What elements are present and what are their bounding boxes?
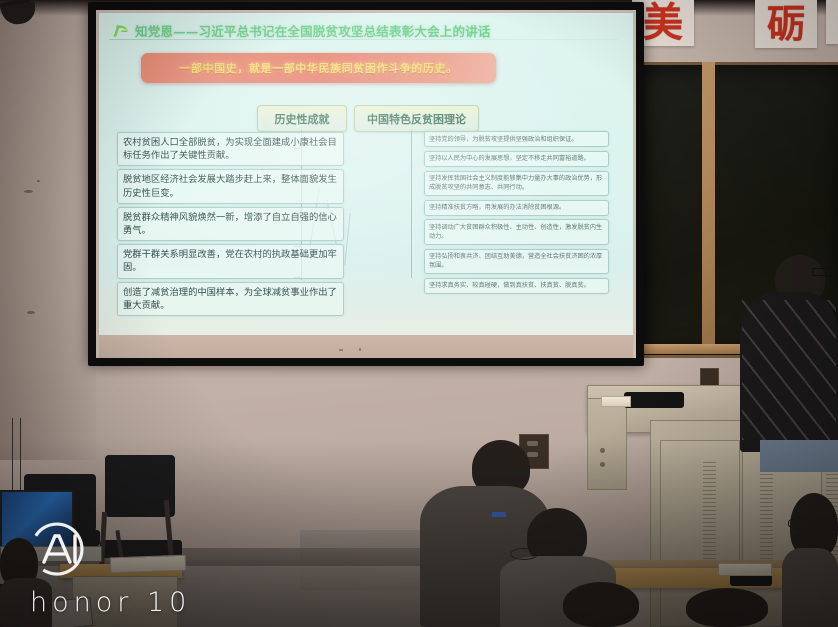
slide-bullet-text: 脱贫地区经济社会发展大踏步赶上来，整体面貌发生历史性巨变。 — [123, 173, 338, 199]
notebook — [718, 563, 772, 576]
slide-category-theory: 中国特色反贫困理论 — [354, 105, 479, 132]
wall-socket-hole — [527, 452, 538, 457]
slide-bullet-text: 坚持党的领导，为脱贫攻坚提供坚强政治和组织保证。 — [429, 135, 604, 144]
classroom-photo-scene: 美 砺 知党恩——习近平 — [0, 0, 838, 627]
slide-bullet-text: 农村贫困人口全部脱贫，为实现全面建成小康社会目标任务作出了关键性贡献。 — [123, 136, 338, 162]
slide-bullet-text: 创造了减贫治理的中国样本，为全球减贫事业作出了重大贡献。 — [123, 286, 338, 312]
presenter-sweater-pattern — [742, 300, 836, 440]
screen-lower-wall — [99, 335, 633, 358]
ccp-party-emblem-icon — [111, 22, 130, 39]
lanyard — [492, 512, 506, 517]
open-book — [110, 555, 187, 574]
slide-bullet-text: 坚持调动广大贫困群众积极性、主动性、创造性，激发脱贫内生动力。 — [429, 223, 604, 242]
audience-glasses-icon — [510, 548, 538, 560]
slide-title-divider — [109, 39, 619, 40]
slide-title: 知党恩——习近平总书记在全国脱贫攻坚总结表彰大会上的讲话 — [135, 21, 491, 40]
slide-connector-right — [411, 130, 412, 278]
slide-bullet: 党群干群关系明显改善，党在农村的执政基础更加牢固。 — [117, 244, 344, 278]
slide-bullet: 坚持以人民为中心的发展思想，坚定不移走共同富裕道路。 — [424, 151, 609, 167]
lectern-side-panel — [587, 398, 627, 490]
projection-screen-surface: 知党恩——习近平总书记在全国脱贫攻坚总结表彰大会上的讲话 一部中国史，就是一部中… — [96, 10, 636, 358]
presentation-slide: 知党恩——习近平总书记在全国脱贫攻坚总结表彰大会上的讲话 一部中国史，就是一部中… — [99, 13, 633, 335]
lectern-knob — [600, 448, 605, 453]
slide-quote-text: 一部中国史，就是一部中华民族同贫困作斗争的历史。 — [179, 60, 457, 76]
slide-bullet: 坚持求真务实、较真碰硬，做到真扶贫、扶真贫、脱真贫。 — [424, 278, 609, 294]
slide-category-label: 历史性成就 — [275, 111, 330, 127]
slide-bullet: 坚持党的领导，为脱贫攻坚提供坚强政治和组织保证。 — [424, 131, 609, 147]
slide-bullet: 坚持弘扬和衷共济、团结互助美德，营造全社会扶贫济困的浓厚氛围。 — [424, 249, 609, 275]
audience-head — [686, 588, 768, 627]
wall-socket-hole — [527, 441, 538, 446]
slide-bullet: 脱贫群众精神风貌焕然一新，增添了自立自强的信心勇气。 — [117, 207, 344, 241]
slide-bullet-text: 坚持发挥我国社会主义制度能够集中力量办大事的政治优势，形成脱贫攻坚的共同意志、共… — [429, 174, 604, 193]
screen-dust-speck — [359, 348, 361, 351]
wall-poster-character: 美 — [643, 3, 683, 43]
slide-left-column: 农村贫困人口全部脱贫，为实现全面建成小康社会目标任务作出了关键性贡献。 脱贫地区… — [117, 132, 344, 319]
wall-blemish — [24, 190, 33, 193]
audience-body — [782, 548, 838, 627]
slide-category-label: 中国特色反贫困理论 — [367, 111, 466, 127]
slide-quote-banner: 一部中国史，就是一部中华民族同贫困作斗争的历史。 — [141, 53, 496, 83]
slide-right-column: 坚持党的领导，为脱贫攻坚提供坚强政治和组织保证。 坚持以人民为中心的发展思想，坚… — [424, 131, 609, 297]
slide-bullet-text: 坚持以人民为中心的发展思想，坚定不移走共同富裕道路。 — [429, 154, 604, 163]
slide-bullet: 农村贫困人口全部脱贫，为实现全面建成小康社会目标任务作出了关键性贡献。 — [117, 132, 344, 166]
screen-dust-speck — [339, 349, 343, 351]
audience-body — [0, 578, 52, 627]
slide-bullet: 脱贫地区经济社会发展大踏步赶上来，整体面貌发生历史性巨变。 — [117, 169, 344, 203]
slide-bullet-text: 党群干群关系明显改善，党在农村的执政基础更加牢固。 — [123, 248, 338, 274]
presenter-glasses-icon — [812, 268, 834, 276]
wall-blemish — [27, 311, 35, 314]
slide-bullet: 坚持精准扶贫方略，用发展的办法消除贫困根源。 — [424, 200, 609, 216]
presenter-jeans — [760, 440, 838, 472]
wall-shadow — [0, 0, 96, 460]
slide-bullet-text: 坚持弘扬和衷共济、团结互助美德，营造全社会扶贫济困的浓厚氛围。 — [429, 252, 604, 271]
slide-bullet-text: 坚持精准扶贫方略，用发展的办法消除贫困根源。 — [429, 203, 604, 212]
slide-title-row: 知党恩——习近平总书记在全国脱贫攻坚总结表彰大会上的讲话 — [111, 21, 491, 40]
slide-bullet: 坚持调动广大贫困群众积极性、主动性、创造性，激发脱贫内生动力。 — [424, 219, 609, 245]
cabinet-vent — [760, 462, 773, 560]
hanging-wire — [20, 418, 21, 496]
projection-screen-frame: 知党恩——习近平总书记在全国脱贫攻坚总结表彰大会上的讲话 一部中国史，就是一部中… — [88, 2, 644, 366]
cabinet-vent — [703, 462, 716, 560]
slide-bullet-text: 脱贫群众精神风貌焕然一新，增添了自立自强的信心勇气。 — [123, 211, 338, 237]
slide-bullet: 创造了减贫治理的中国样本，为全球减贫事业作出了重大贡献。 — [117, 282, 344, 316]
wall-poster: 砺 — [755, 0, 817, 48]
lectern-equipment[interactable] — [624, 392, 684, 408]
audience-head — [563, 582, 639, 627]
lectern-knob — [600, 462, 605, 467]
slide-bullet: 坚持发挥我国社会主义制度能够集中力量办大事的政治优势，形成脱贫攻坚的共同意志、共… — [424, 171, 609, 197]
wall-blemish — [37, 180, 40, 182]
board-scribble — [344, 213, 350, 265]
blackboard-center-strip — [702, 62, 715, 352]
wall-poster-character: 砺 — [767, 5, 805, 43]
wall-poster — [826, 0, 838, 44]
lectern-paper — [601, 396, 631, 407]
audience-glasses-icon — [788, 518, 812, 529]
slide-category-achievements: 历史性成就 — [257, 105, 347, 132]
slide-bullet-text: 坚持求真务实、较真碰硬，做到真扶贫、扶真贫、脱真贫。 — [429, 281, 604, 290]
